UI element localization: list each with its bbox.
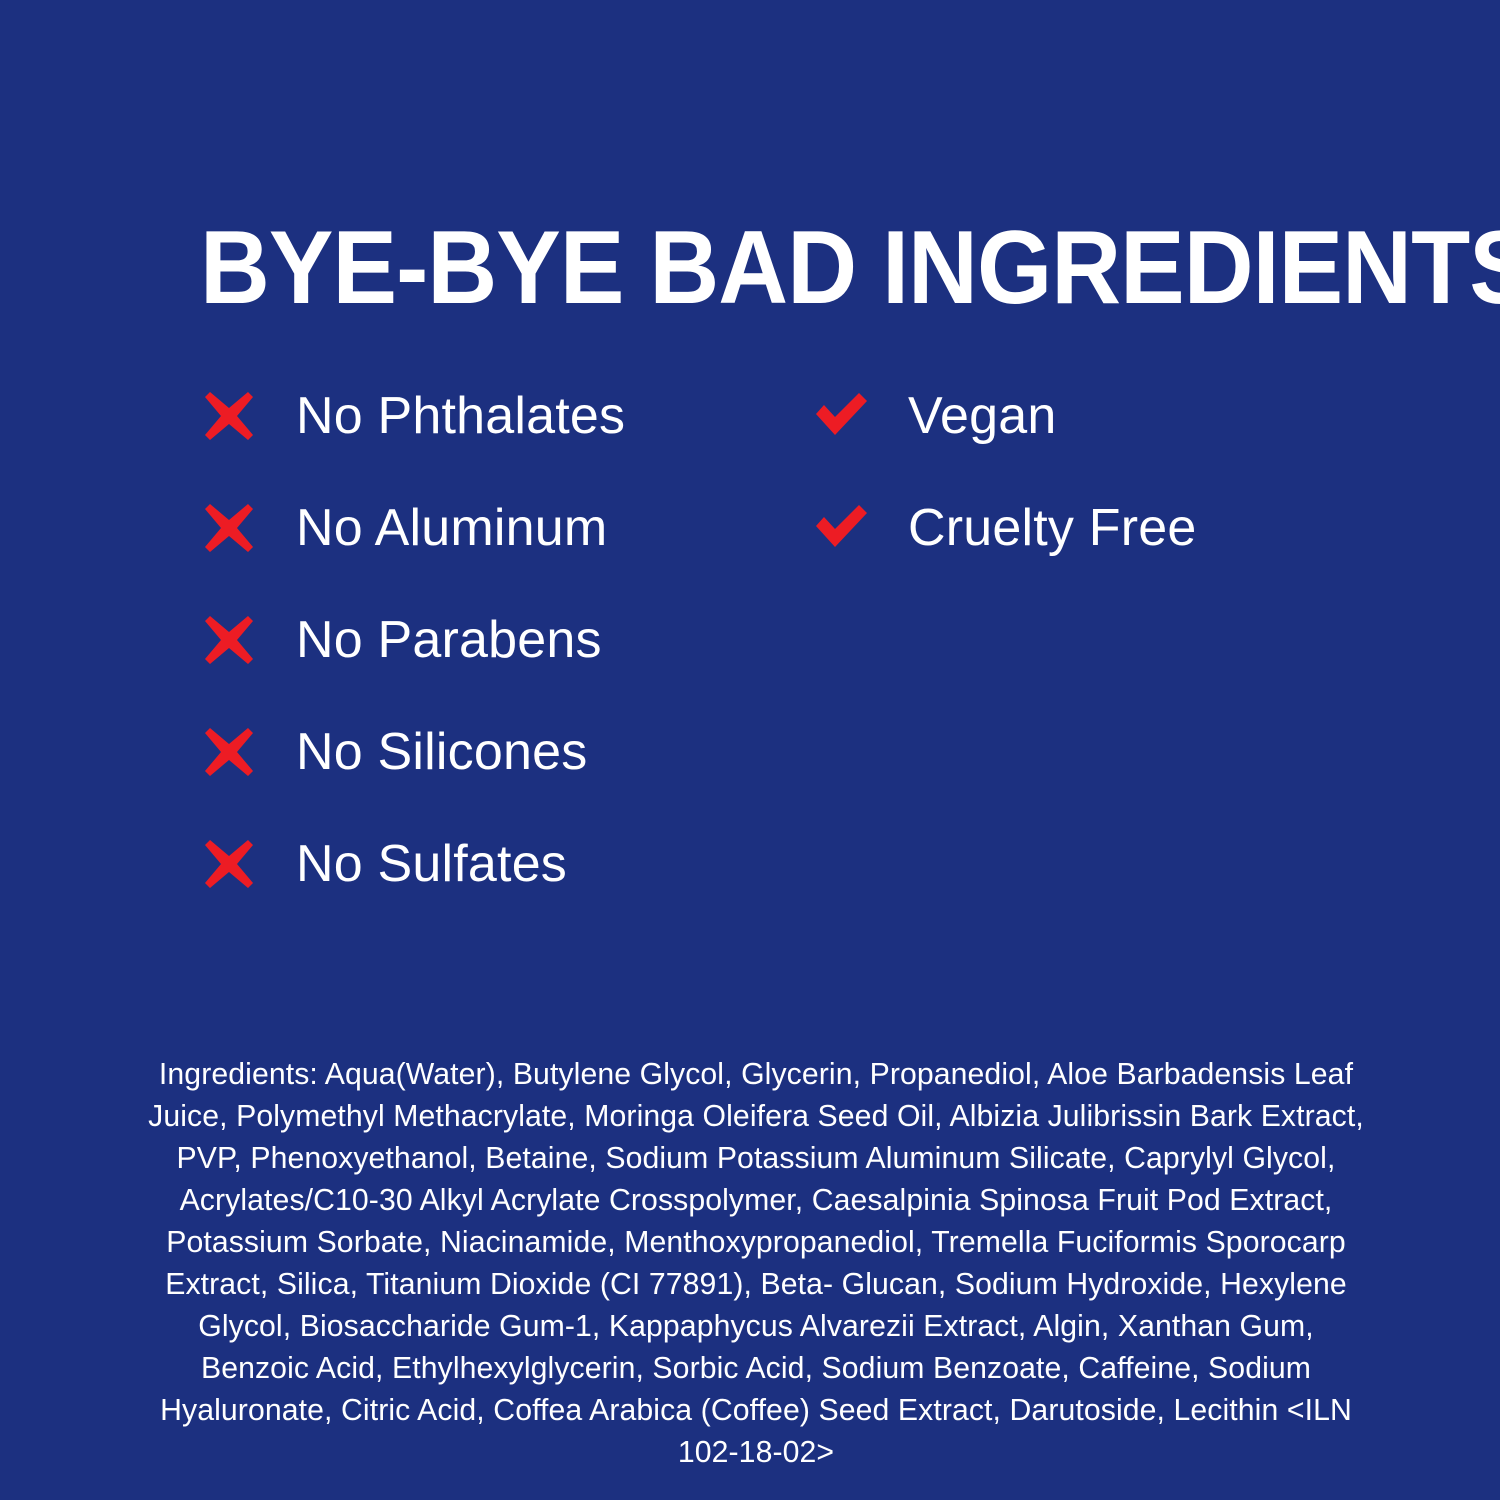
claim-item-vegan: Vegan [812,360,1412,472]
claim-item-no-sulfates: No Sulfates [200,808,760,920]
cross-icon [200,723,296,781]
claims-column-positive: Vegan Cruelty Free [812,360,1412,584]
claim-item-no-phthalates: No Phthalates [200,360,760,472]
ingredients-text: Ingredients: Aqua(Water), Butylene Glyco… [146,1053,1366,1473]
claim-item-no-silicones: No Silicones [200,696,760,808]
claim-item-no-aluminum: No Aluminum [200,472,760,584]
claim-label: Cruelty Free [908,501,1412,556]
claim-label: No Aluminum [296,501,760,556]
claim-label: No Phthalates [296,389,760,444]
claim-label: Vegan [908,389,1412,444]
cross-icon [200,835,296,893]
product-claims-panel: BYE-BYE BAD INGREDIENTS. No Phthalates N… [0,0,1500,1500]
check-icon [812,387,908,445]
cross-icon [200,387,296,445]
claim-label: No Silicones [296,725,760,780]
page-title: BYE-BYE BAD INGREDIENTS. [200,216,1242,320]
claim-label: No Parabens [296,613,760,668]
claims-grid: No Phthalates No Aluminum No Parabens [0,360,1500,920]
claim-item-cruelty-free: Cruelty Free [812,472,1412,584]
claim-item-no-parabens: No Parabens [200,584,760,696]
claims-column-negative: No Phthalates No Aluminum No Parabens [200,360,760,920]
cross-icon [200,611,296,669]
claim-label: No Sulfates [296,837,760,892]
cross-icon [200,499,296,557]
check-icon [812,499,908,557]
page-title-text: BYE-BYE BAD INGREDIENTS [200,210,1500,326]
